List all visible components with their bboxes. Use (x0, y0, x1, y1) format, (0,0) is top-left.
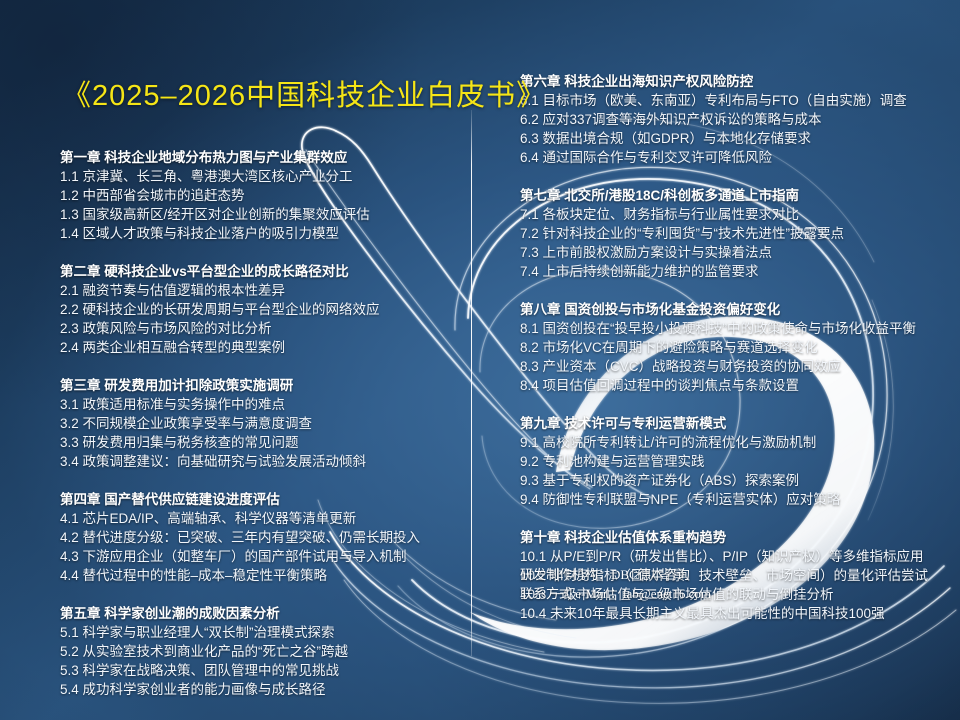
right-column: 第六章 科技企业出海知识产权风险防控 6.1 目标市场（欧美、东南亚）专利布局与… (520, 72, 940, 623)
chapter-heading: 第六章 科技企业出海知识产权风险防控 (520, 72, 940, 91)
chapter-item: 7.3 上市前股权激励方案设计与实操着法点 (520, 243, 940, 262)
contact-line: 联系方式 e-Mail：lab@enet16.com (520, 584, 711, 603)
chapter-heading: 第八章 国资创投与市场化基金投资偏好变化 (520, 300, 940, 319)
chapter-item: 10.1 从P/E到P/R（研发出售比）、P/IP（知识产权）等多维指标应用 (520, 547, 940, 566)
chapter-block: 第一章 科技企业地域分布热力图与产业集群效应 1.1 京津冀、长三角、粤港澳大湾… (60, 148, 460, 243)
chapter-item: 9.3 基于专利权的资产证券化（ABS）探索案例 (520, 471, 940, 490)
chapter-item: 9.1 高校院所专利转让/许可的流程优化与激励机制 (520, 433, 940, 452)
chapter-item: 6.3 数据出境合规（如GDPR）与本地化存储要求 (520, 129, 940, 148)
chapter-item: 4.2 替代进度分级：已突破、三年内有望突破、仍需长期投入 (60, 528, 460, 547)
chapter-item: 3.4 政策调整建议：向基础研究与试验发展活动倾斜 (60, 452, 460, 471)
chapter-heading: 第十章 科技企业估值体系重构趋势 (520, 528, 940, 547)
chapter-item: 9.2 专利池构建与运营管理实践 (520, 452, 940, 471)
chapter-block: 第五章 科学家创业潮的成败因素分析 5.1 科学家与职业经理人“双长制”治理模式… (60, 604, 460, 699)
column-divider (471, 110, 472, 656)
chapter-item: 5.2 从实验室技术到商业化产品的“死亡之谷”跨越 (60, 642, 460, 661)
chapter-item: 6.2 应对337调查等海外知识产权诉讼的策略与成本 (520, 110, 940, 129)
producer-line: 研发制作机构：DBC德本咨询 (520, 565, 711, 584)
chapter-item: 8.2 市场化VC在周期下的避险策略与赛道选择变化 (520, 338, 940, 357)
chapter-item: 7.2 针对科技企业的“专利囤货”与“技术先进性”披露要点 (520, 224, 940, 243)
chapter-item: 1.4 区域人才政策与科技企业落户的吸引力模型 (60, 224, 460, 243)
chapter-item: 7.1 各板块定位、财务指标与行业属性要求对比 (520, 205, 940, 224)
chapter-heading: 第四章 国产替代供应链建设进度评估 (60, 490, 460, 509)
chapter-item: 3.2 不同规模企业政策享受率与满意度调查 (60, 414, 460, 433)
chapter-item: 6.1 目标市场（欧美、东南亚）专利布局与FTO（自由实施）调查 (520, 91, 940, 110)
chapter-item: 8.3 产业资本（CVC）战略投资与财务投资的协同效应 (520, 357, 940, 376)
chapter-item: 1.2 中西部省会城市的追赶态势 (60, 186, 460, 205)
chapter-item: 2.1 融资节奏与估值逻辑的根本性差异 (60, 281, 460, 300)
chapter-item: 10.4 未来10年最具长期主义最具杰出可能性的中国科技100强 (520, 604, 940, 623)
chapter-block: 第四章 国产替代供应链建设进度评估 4.1 芯片EDA/IP、高端轴承、科学仪器… (60, 490, 460, 585)
chapter-block: 第九章 技术许可与专利运营新模式 9.1 高校院所专利转让/许可的流程优化与激励… (520, 414, 940, 509)
chapter-item: 1.1 京津冀、长三角、粤港澳大湾区核心产业分工 (60, 167, 460, 186)
chapter-item: 3.1 政策适用标准与实务操作中的难点 (60, 395, 460, 414)
chapter-item: 2.4 两类企业相互融合转型的典型案例 (60, 338, 460, 357)
chapter-item: 9.4 防御性专利联盟与NPE（专利运营实体）应对策略 (520, 490, 940, 509)
left-column: 第一章 科技企业地域分布热力图与产业集群效应 1.1 京津冀、长三角、粤港澳大湾… (60, 148, 460, 699)
credits-block: 研发制作机构：DBC德本咨询 联系方式 e-Mail：lab@enet16.co… (520, 565, 711, 603)
slide-canvas: 《2025–2026中国科技企业白皮书》 第一章 科技企业地域分布热力图与产业集… (0, 0, 960, 720)
chapter-block: 第七章 北交所/港股18C/科创板多通道上市指南 7.1 各板块定位、财务指标与… (520, 186, 940, 281)
chapter-heading: 第二章 硬科技企业vs平台型企业的成长路径对比 (60, 262, 460, 281)
chapter-block: 第二章 硬科技企业vs平台型企业的成长路径对比 2.1 融资节奏与估值逻辑的根本… (60, 262, 460, 357)
chapter-heading: 第九章 技术许可与专利运营新模式 (520, 414, 940, 433)
chapter-heading: 第一章 科技企业地域分布热力图与产业集群效应 (60, 148, 460, 167)
chapter-item: 8.4 项目估值回调过程中的谈判焦点与条款设置 (520, 376, 940, 395)
chapter-heading: 第七章 北交所/港股18C/科创板多通道上市指南 (520, 186, 940, 205)
chapter-block: 第三章 研发费用加计扣除政策实施调研 3.1 政策适用标准与实务操作中的难点 3… (60, 376, 460, 471)
chapter-item: 5.1 科学家与职业经理人“双长制”治理模式探索 (60, 623, 460, 642)
chapter-block: 第六章 科技企业出海知识产权风险防控 6.1 目标市场（欧美、东南亚）专利布局与… (520, 72, 940, 167)
chapter-heading: 第三章 研发费用加计扣除政策实施调研 (60, 376, 460, 395)
chapter-item: 2.3 政策风险与市场风险的对比分析 (60, 319, 460, 338)
chapter-item: 5.4 成功科学家创业者的能力画像与成长路径 (60, 680, 460, 699)
chapter-item: 4.4 替代过程中的性能–成本–稳定性平衡策略 (60, 566, 460, 585)
chapter-item: 4.1 芯片EDA/IP、高端轴承、科学仪器等清单更新 (60, 509, 460, 528)
chapter-heading: 第五章 科学家创业潮的成败因素分析 (60, 604, 460, 623)
chapter-item: 2.2 硬科技企业的长研发周期与平台型企业的网络效应 (60, 300, 460, 319)
chapter-item: 5.3 科学家在战略决策、团队管理中的常见挑战 (60, 661, 460, 680)
chapter-item: 7.4 上市后持续创新能力维护的监管要求 (520, 262, 940, 281)
chapter-item: 1.3 国家级高新区/经开区对企业创新的集聚效应评估 (60, 205, 460, 224)
chapter-item: 6.4 通过国际合作与专利交叉许可降低风险 (520, 148, 940, 167)
page-title: 《2025–2026中国科技企业白皮书》 (62, 72, 546, 114)
chapter-item: 3.3 研发费用归集与税务核查的常见问题 (60, 433, 460, 452)
chapter-item: 4.3 下游应用企业（如整车厂）的国产部件试用与导入机制 (60, 547, 460, 566)
chapter-item: 8.1 国资创投在“投早投小投硬科技”中的政策使命与市场化收益平衡 (520, 319, 940, 338)
chapter-block: 第八章 国资创投与市场化基金投资偏好变化 8.1 国资创投在“投早投小投硬科技”… (520, 300, 940, 395)
